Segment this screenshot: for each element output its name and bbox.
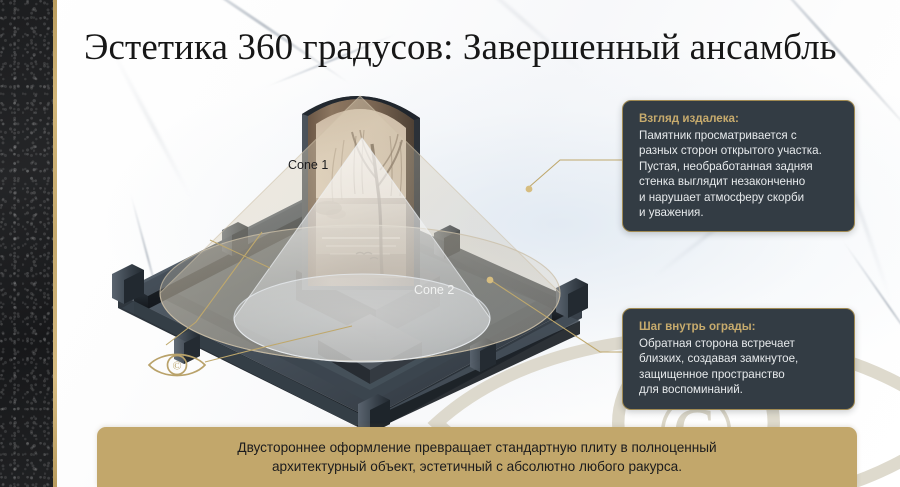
callout-far-heading: Взгляд издалека: bbox=[639, 111, 840, 127]
bottom-summary-text: Двустороннее оформление превращает станд… bbox=[213, 438, 740, 476]
slide-root: Эстетика 360 градусов: Завершенный ансам… bbox=[0, 0, 900, 487]
callout-inside-body: Обратная сторона встречает близких, созд… bbox=[639, 336, 840, 398]
bottom-summary-banner: Двустороннее оформление превращает станд… bbox=[97, 427, 857, 487]
callout-inside-heading: Шаг внутрь ограды: bbox=[639, 319, 840, 335]
callout-far-body: Памятник просматривается с разных сторон… bbox=[639, 128, 840, 220]
callout-far-view[interactable]: Взгляд издалека: Памятник просматриваетс… bbox=[622, 100, 855, 232]
svg-text:©: © bbox=[172, 359, 181, 373]
gold-divider-line bbox=[53, 0, 57, 487]
cone-1-label: Cone 1 bbox=[288, 158, 328, 172]
eye-watermark-bottom-left: © bbox=[146, 348, 208, 382]
page-title: Эстетика 360 градусов: Завершенный ансам… bbox=[84, 26, 884, 70]
callout-inside-fence[interactable]: Шаг внутрь ограды: Обратная сторона встр… bbox=[622, 308, 855, 410]
left-granite-band bbox=[0, 0, 53, 487]
